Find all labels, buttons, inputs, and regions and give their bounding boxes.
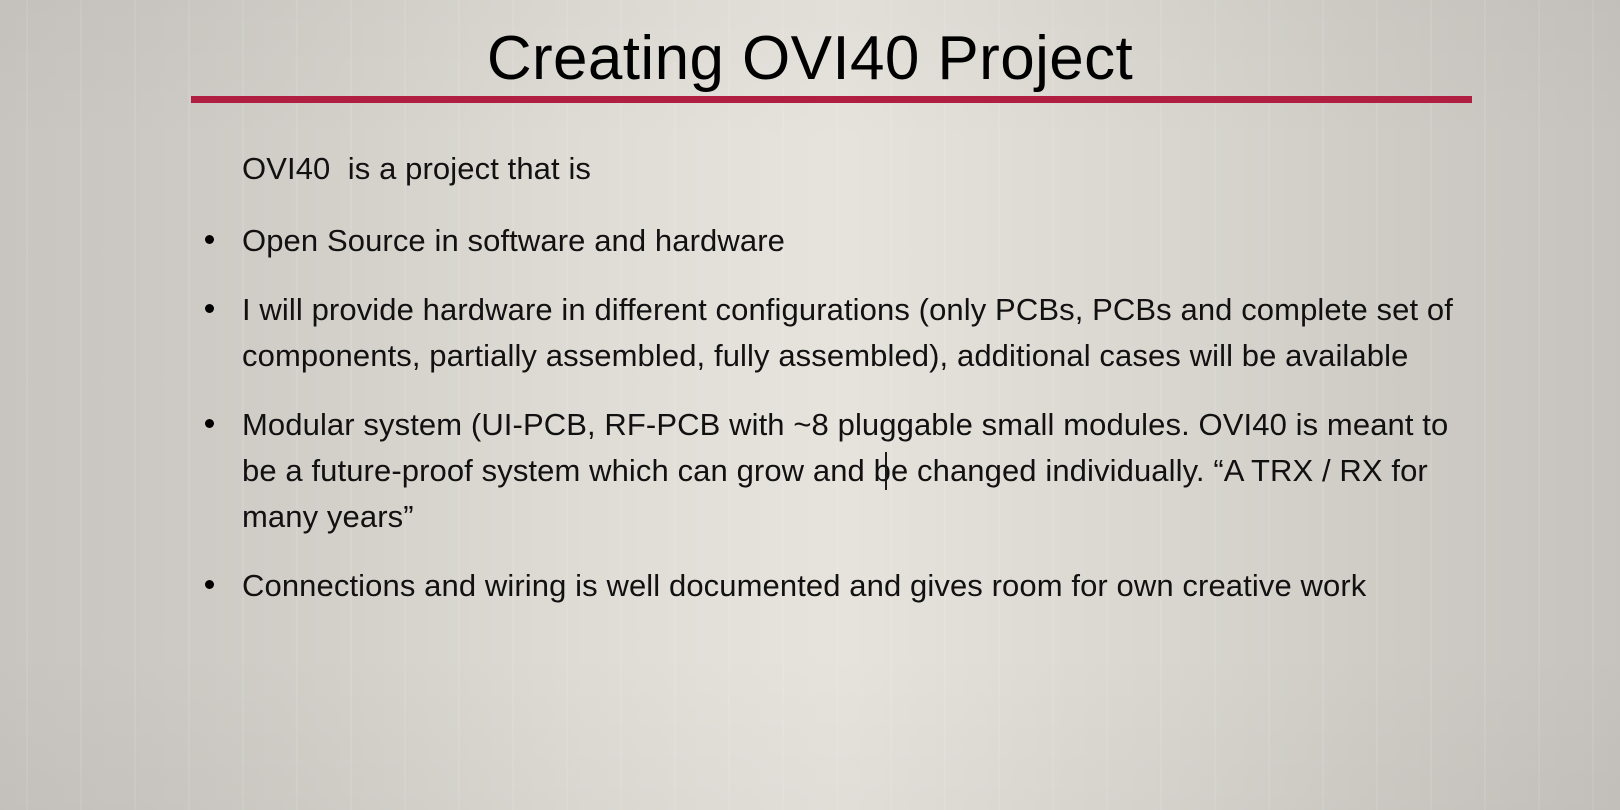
bullet-text-4: Connections and wiring is well documente… [242, 563, 1470, 609]
intro-text: OVI40 is a project that is [242, 146, 1470, 192]
bullet-text-2: I will provide hardware in different con… [242, 287, 1470, 379]
bullet-dot-icon [205, 580, 214, 589]
bullet-dot-icon [205, 304, 214, 313]
bullet-text-3: Modular system (UI-PCB, RF-PCB with ~8 p… [242, 402, 1470, 540]
bullet-item-3: Modular system (UI-PCB, RF-PCB with ~8 p… [0, 402, 1620, 540]
slide-body: OVI40 is a project that is Open Source i… [0, 146, 1620, 632]
bullet-dot-icon [205, 235, 214, 244]
presentation-slide: Creating OVI40 Project OVI40 is a projec… [0, 0, 1620, 810]
text-insertion-caret[interactable] [885, 452, 887, 490]
slide-title-block: Creating OVI40 Project [0, 26, 1620, 91]
bullet-item-4: Connections and wiring is well documente… [0, 563, 1620, 609]
bullet-item-1: Open Source in software and hardware [0, 218, 1620, 264]
page-title: Creating OVI40 Project [0, 26, 1620, 91]
title-underline-rule [191, 96, 1472, 103]
bullet-item-2: I will provide hardware in different con… [0, 287, 1620, 379]
intro-paragraph: OVI40 is a project that is [0, 146, 1620, 192]
bullet-dot-icon [205, 419, 214, 428]
bullet-text-1: Open Source in software and hardware [242, 218, 1470, 264]
